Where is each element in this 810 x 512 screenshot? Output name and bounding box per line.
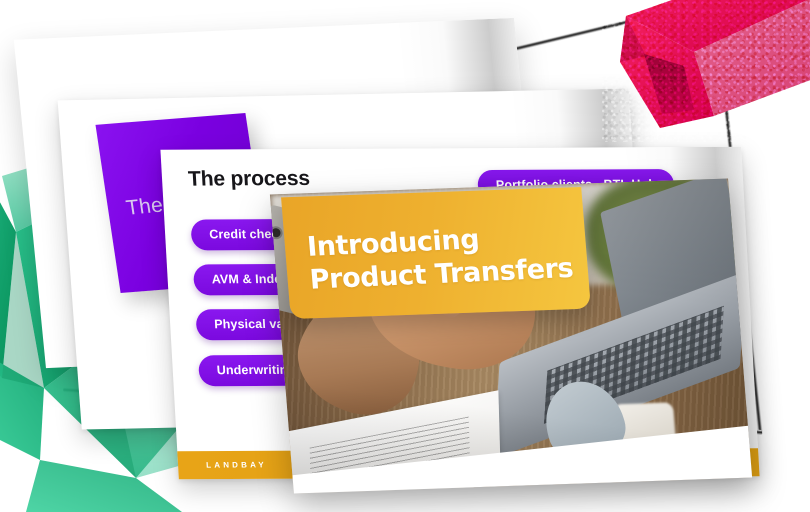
- introducing-product-transfers-panel: Introducing Product Transfers: [281, 187, 591, 319]
- scene-stage: The s The process Credit check AVM & Ind…: [0, 0, 810, 512]
- hero-headline: Introducing Product Transfers: [306, 220, 579, 298]
- pink-foam-sponge: [602, 0, 810, 142]
